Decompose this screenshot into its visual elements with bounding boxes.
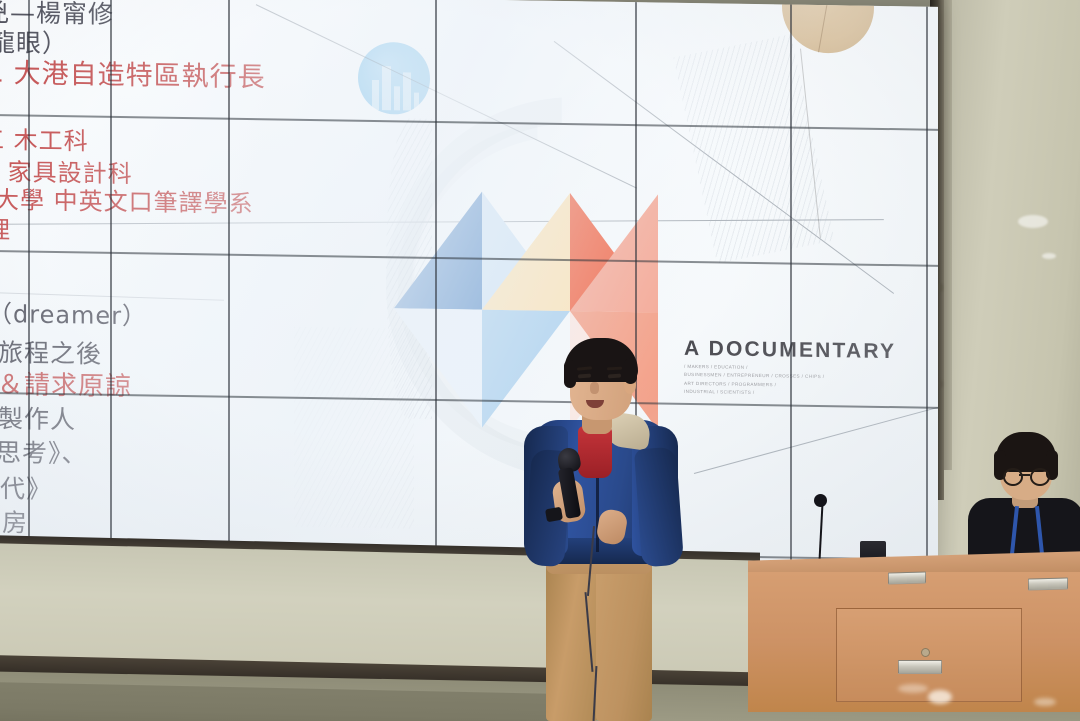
- glasses-icon: [1030, 468, 1050, 486]
- wall-blemish: [1018, 215, 1048, 228]
- slide-text-line: 與思考》、: [0, 440, 88, 467]
- wooden-podium[interactable]: [748, 548, 1080, 721]
- wall-blemish: [938, 283, 943, 292]
- slide-text-line: 世代》: [0, 476, 52, 502]
- slide-text-line: 歷大學 中英文口筆譯學系: [0, 188, 254, 216]
- logo-triangle-cream: [482, 192, 570, 311]
- slide-text-line: 意＆請求原諒: [0, 372, 132, 401]
- slide-text-line: 理: [0, 218, 11, 242]
- desk-microphone-head: [814, 494, 827, 507]
- logo-triangle-blue-dark: [394, 190, 482, 309]
- slide-text-line: 的製作人: [0, 406, 76, 433]
- podium-stain: [898, 684, 928, 693]
- presenter-hair-sideburn: [624, 358, 637, 384]
- wall-blemish: [1042, 253, 1056, 259]
- person-behind-podium: [972, 424, 1080, 564]
- slide-text-line: 兇—楊甯修: [0, 0, 114, 27]
- door-frame: [944, 0, 952, 470]
- podium-lock[interactable]: [921, 648, 930, 657]
- wall-blemish: [938, 380, 943, 388]
- slide-text-line: 國旅程之後: [0, 340, 102, 367]
- glasses-bridge: [1019, 474, 1030, 476]
- led-video-wall[interactable]: A DOCUMENTARY / MAKERS / EDUCATION / BUS…: [0, 0, 938, 573]
- presentation-photo-scene: A DOCUMENTARY / MAKERS / EDUCATION / BUS…: [0, 0, 1080, 721]
- presenter-nose: [590, 382, 599, 394]
- podium-drawer-handle[interactable]: [898, 660, 942, 674]
- video-wall-bezel-vertical: [28, 0, 30, 573]
- slide-text-line: （dreamer）: [0, 302, 147, 328]
- slide-text-line: 二 大港自造特區執行長: [0, 60, 266, 92]
- slide-text-line: 匯房: [0, 510, 28, 536]
- presenter: [520, 330, 730, 721]
- video-wall-bezel-vertical: [228, 0, 230, 573]
- presenter-hair-sideburn: [564, 360, 576, 388]
- video-wall-bezel-vertical: [435, 0, 437, 573]
- podium-top-handle-right[interactable]: [1028, 577, 1068, 590]
- presenter-pants-right: [596, 552, 652, 721]
- presenter-arm-right: [634, 447, 684, 568]
- slide-text-line: 專 家具設計科: [0, 160, 133, 186]
- podium-top-handle-left[interactable]: [888, 571, 926, 584]
- video-wall-bezel-vertical: [926, 0, 928, 573]
- video-wall-bezel-vertical: [790, 0, 792, 573]
- podium-scuff: [1034, 698, 1056, 706]
- slide-text-line: 工 木工科: [0, 128, 89, 154]
- logo-triangle-blue-pale: [394, 308, 482, 427]
- slide-text-line: （龍眼）: [0, 30, 68, 57]
- blue-circle-city-icon: [358, 42, 430, 115]
- tan-circle-graphic: [782, 0, 874, 54]
- presenter-watch: [545, 507, 563, 523]
- glasses-icon: [1003, 468, 1023, 486]
- podium-stain: [928, 690, 952, 704]
- logo-triangle-orange-soft: [570, 193, 658, 312]
- video-wall-bezel-vertical: [110, 0, 112, 573]
